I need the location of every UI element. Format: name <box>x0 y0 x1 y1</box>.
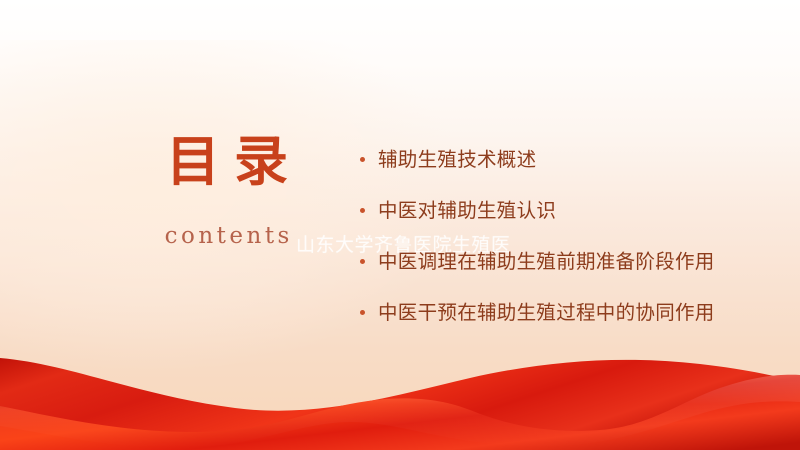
page-title-english: contents <box>102 224 352 249</box>
toc-item[interactable]: 中医调理在辅助生殖前期准备阶段作用 <box>358 244 726 279</box>
title-block: 目录 contents <box>102 132 352 250</box>
toc-item[interactable]: 辅助生殖技术概述 <box>358 142 726 177</box>
bullet-dot-icon <box>360 157 365 162</box>
toc-item[interactable]: 中医对辅助生殖认识 <box>358 193 726 228</box>
toc-item[interactable]: 中医干预在辅助生殖过程中的协同作用 <box>358 295 726 330</box>
toc-item-label: 中医对辅助生殖认识 <box>378 199 556 222</box>
bullet-dot-icon <box>360 208 365 213</box>
wave-front-path <box>0 375 800 450</box>
bullet-dot-icon <box>360 310 365 315</box>
toc-item-label: 中医调理在辅助生殖前期准备阶段作用 <box>378 250 715 273</box>
wave-back-path <box>0 358 800 450</box>
table-of-contents-list: 辅助生殖技术概述 中医对辅助生殖认识 中医调理在辅助生殖前期准备阶段作用 中医干… <box>358 142 726 330</box>
bottom-wave-decoration <box>0 330 800 450</box>
toc-item-label: 辅助生殖技术概述 <box>378 148 536 171</box>
wave-svg <box>0 330 800 450</box>
bullet-dot-icon <box>360 259 365 264</box>
page-title-chinese: 目录 <box>102 132 352 190</box>
wave-sheen-path <box>0 375 800 448</box>
toc-item-label: 中医干预在辅助生殖过程中的协同作用 <box>378 301 715 324</box>
presentation-slide: 目录 contents 山东大学齐鲁医院生殖医 辅助生殖技术概述 中医对辅助生殖… <box>0 0 800 450</box>
